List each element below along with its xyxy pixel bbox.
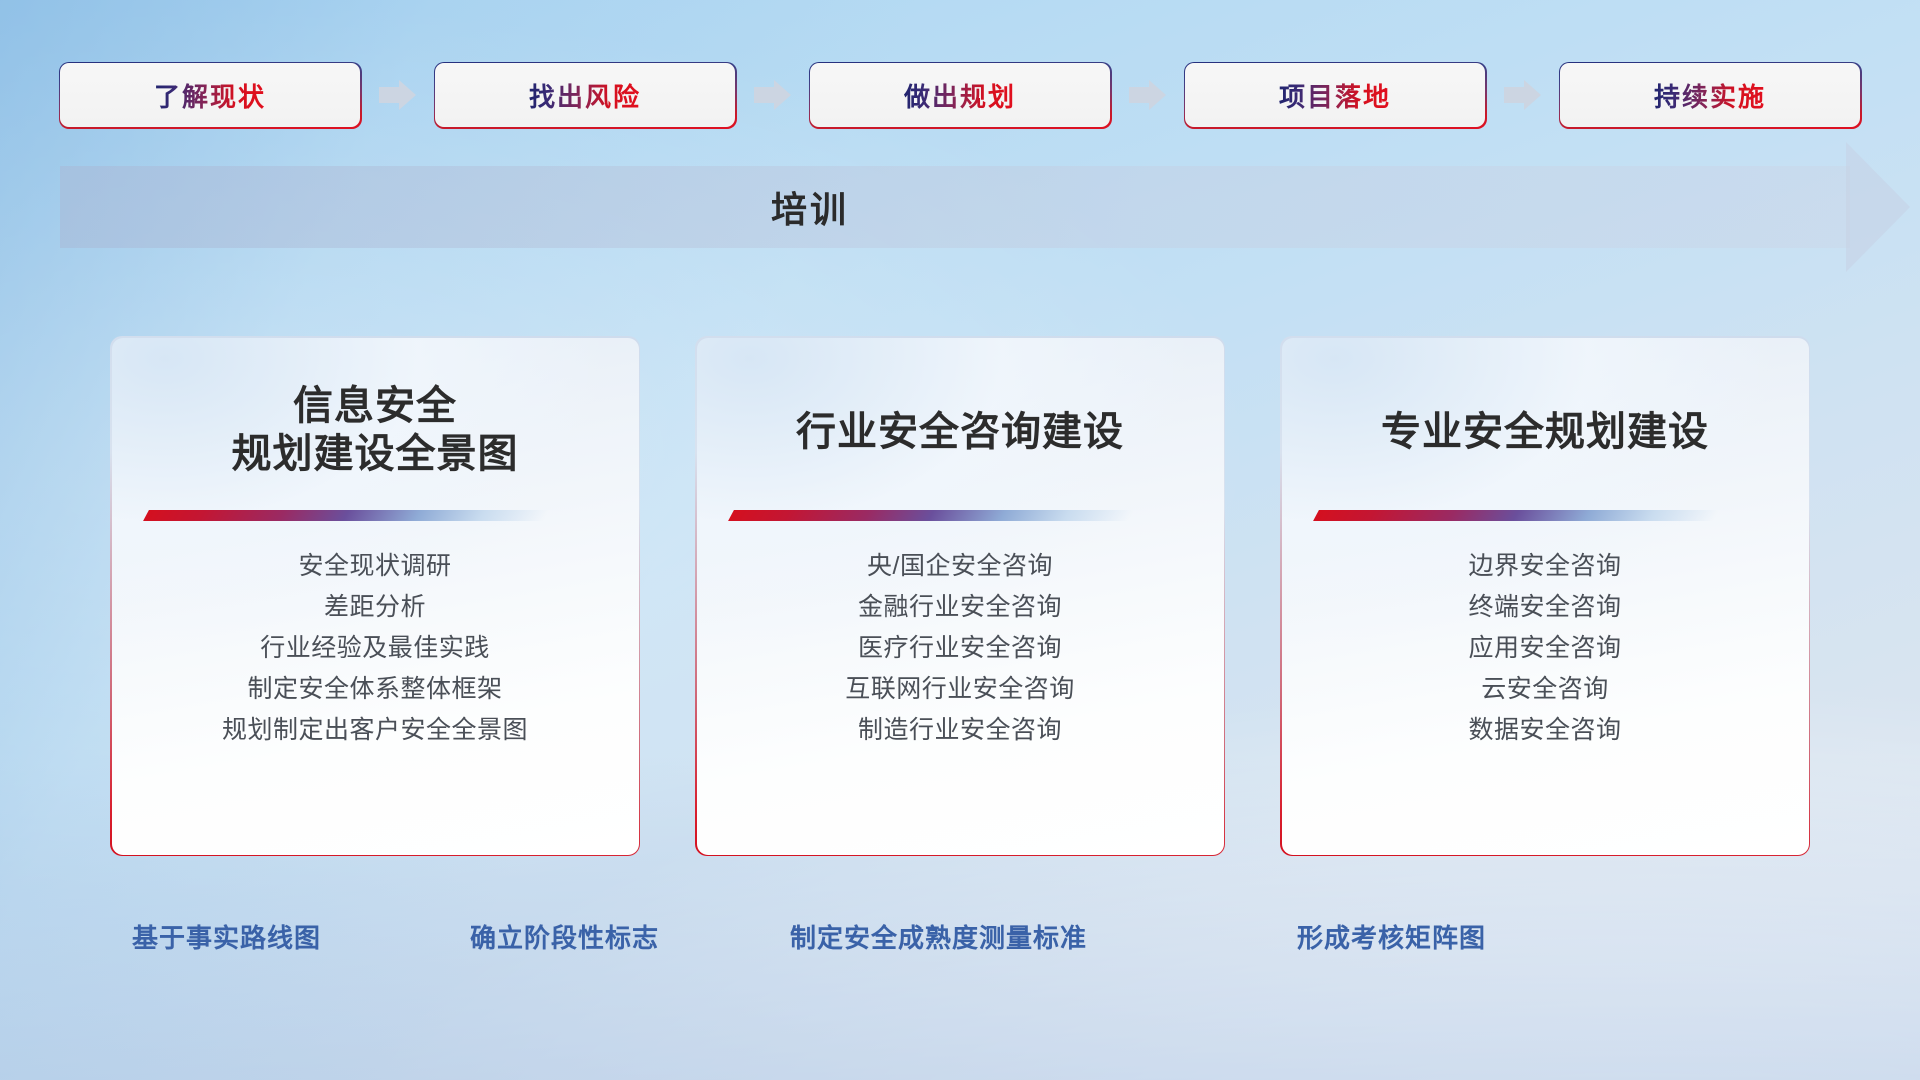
list-item: 行业经验及最佳实践: [112, 636, 639, 661]
arrow-right-icon: [1504, 80, 1542, 110]
card-item-list: 安全现状调研 差距分析 行业经验及最佳实践 制定安全体系整体框架 规划制定出客户…: [112, 554, 639, 743]
flow-step-label: 做出规划: [904, 77, 1016, 114]
card-industry-security-consulting[interactable]: 行业安全咨询建设 央/国企安全咨询 金融行业安全咨询 医疗行业安全咨询 互联网行…: [695, 336, 1225, 856]
flow-step-2[interactable]: 做出规划: [810, 63, 1110, 127]
list-item: 安全现状调研: [112, 554, 639, 579]
card-divider: [1313, 510, 1719, 521]
list-item: 数据安全咨询: [1282, 718, 1809, 743]
card-title: 专业安全规划建设: [1282, 408, 1809, 457]
flow-step-label: 了解现状: [154, 77, 266, 114]
list-item: 云安全咨询: [1282, 677, 1809, 702]
flow-step-4[interactable]: 持续实施: [1560, 63, 1860, 127]
list-item: 差距分析: [112, 595, 639, 620]
card-group: 信息安全 规划建设全景图 安全现状调研 差距分析 行业经验及最佳实践 制定安全体…: [110, 336, 1810, 856]
list-item: 制定安全体系整体框架: [112, 677, 639, 702]
arrow-right-icon: [379, 80, 417, 110]
arrow-right-icon: [1129, 80, 1167, 110]
flow-step-label: 持续实施: [1654, 77, 1766, 114]
outcome-label: 制定安全成熟度测量标准: [790, 918, 1087, 955]
card-surface: 信息安全 规划建设全景图 安全现状调研 差距分析 行业经验及最佳实践 制定安全体…: [112, 338, 639, 855]
flow-step-3[interactable]: 项目落地: [1185, 63, 1485, 127]
card-info-security-panorama[interactable]: 信息安全 规划建设全景图 安全现状调研 差距分析 行业经验及最佳实践 制定安全体…: [110, 336, 640, 856]
process-flow: 了解现状 找出风险 做出规划 项目落地 持续实施: [60, 62, 1860, 128]
card-professional-security-planning[interactable]: 专业安全规划建设 边界安全咨询 终端安全咨询 应用安全咨询 云安全咨询 数据安全…: [1280, 336, 1810, 856]
list-item: 应用安全咨询: [1282, 636, 1809, 661]
card-surface: 专业安全规划建设 边界安全咨询 终端安全咨询 应用安全咨询 云安全咨询 数据安全…: [1282, 338, 1809, 855]
flow-step-0[interactable]: 了解现状: [60, 63, 360, 127]
flow-step-1[interactable]: 找出风险: [435, 63, 735, 127]
outcome-label: 确立阶段性标志: [470, 918, 659, 955]
outcome-label: 形成考核矩阵图: [1297, 918, 1486, 955]
list-item: 互联网行业安全咨询: [697, 677, 1224, 702]
flow-step-label: 找出风险: [529, 77, 641, 114]
training-banner: 培训: [60, 166, 1910, 248]
flow-step-label: 项目落地: [1279, 77, 1391, 114]
list-item: 边界安全咨询: [1282, 554, 1809, 579]
card-divider: [728, 510, 1134, 521]
list-item: 终端安全咨询: [1282, 595, 1809, 620]
card-title: 行业安全咨询建设: [697, 408, 1224, 457]
arrow-right-icon: [754, 80, 792, 110]
outcome-label: 基于事实路线图: [132, 918, 321, 955]
card-item-list: 央/国企安全咨询 金融行业安全咨询 医疗行业安全咨询 互联网行业安全咨询 制造行…: [697, 554, 1224, 743]
card-item-list: 边界安全咨询 终端安全咨询 应用安全咨询 云安全咨询 数据安全咨询: [1282, 554, 1809, 743]
card-title: 信息安全 规划建设全景图: [112, 382, 639, 480]
list-item: 医疗行业安全咨询: [697, 636, 1224, 661]
list-item: 央/国企安全咨询: [697, 554, 1224, 579]
banner-label: 培训: [60, 166, 1560, 248]
list-item: 规划制定出客户安全全景图: [112, 718, 639, 743]
outcome-label-row: 基于事实路线图 确立阶段性标志 制定安全成熟度测量标准 形成考核矩阵图: [0, 918, 1920, 968]
banner-arrow-tip-icon: [1846, 142, 1910, 272]
card-divider: [143, 510, 549, 521]
card-surface: 行业安全咨询建设 央/国企安全咨询 金融行业安全咨询 医疗行业安全咨询 互联网行…: [697, 338, 1224, 855]
list-item: 制造行业安全咨询: [697, 718, 1224, 743]
list-item: 金融行业安全咨询: [697, 595, 1224, 620]
